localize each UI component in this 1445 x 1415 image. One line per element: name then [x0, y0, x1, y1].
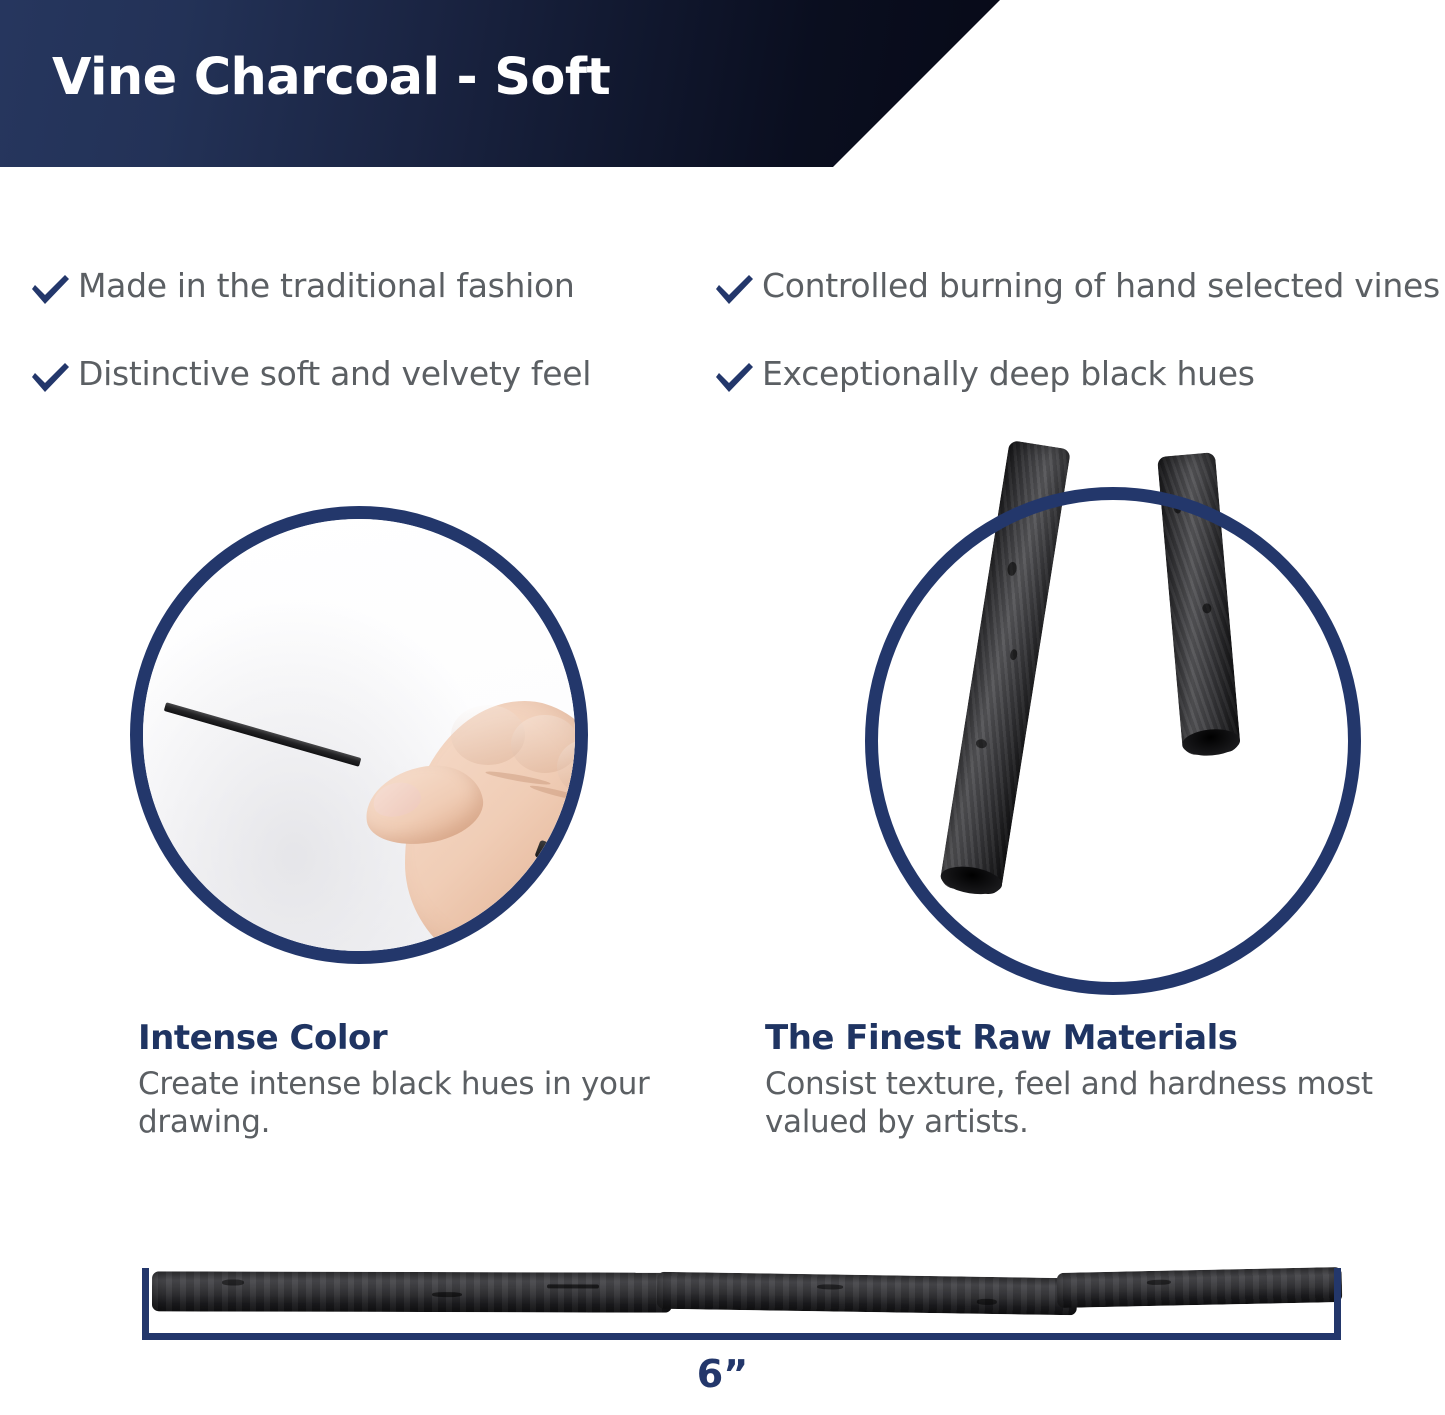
- feature-bullet-item: Controlled burning of hand selected vine…: [712, 265, 1445, 311]
- highlight-title: Intense Color: [138, 1018, 698, 1058]
- highlight-photo-one: [130, 506, 588, 964]
- measurement-section: [142, 1268, 1341, 1340]
- check-icon: [28, 359, 72, 399]
- feature-bullet-label: Distinctive soft and velvety feel: [72, 353, 591, 395]
- feature-bullet-label: Exceptionally deep black hues: [756, 353, 1255, 395]
- check-icon: [712, 271, 756, 311]
- page-title: Vine Charcoal - Soft: [52, 48, 610, 107]
- highlight-caption-two: The Finest Raw Materials Consist texture…: [765, 1018, 1385, 1142]
- feature-bullet-list: Made in the traditional fashion Distinct…: [0, 265, 1445, 465]
- feature-bullet-item: Made in the traditional fashion: [28, 265, 688, 311]
- hand-drawing-with-charcoal-photo: [130, 506, 588, 964]
- charcoal-stick-right: [1157, 452, 1241, 756]
- check-icon: [712, 359, 756, 399]
- highlight-photo-two: [878, 500, 1348, 982]
- hand-illustration: [359, 679, 588, 964]
- feature-bullets-right-column: Controlled burning of hand selected vine…: [712, 265, 1445, 441]
- check-icon: [28, 271, 72, 311]
- feature-bullet-label: Controlled burning of hand selected vine…: [756, 265, 1440, 307]
- charcoal-stick-left: [939, 440, 1071, 896]
- charcoal-sticks-closeup-photo: [878, 500, 1348, 982]
- header-banner: Vine Charcoal - Soft: [0, 0, 1000, 167]
- highlight-title: The Finest Raw Materials: [765, 1018, 1385, 1058]
- measurement-label: 6”: [0, 1352, 1445, 1396]
- highlight-caption-one: Intense Color Create intense black hues …: [138, 1018, 698, 1142]
- feature-bullet-item: Distinctive soft and velvety feel: [28, 353, 688, 399]
- measurement-bracket: [142, 1268, 1341, 1340]
- feature-bullets-left-column: Made in the traditional fashion Distinct…: [28, 265, 688, 441]
- highlight-body: Create intense black hues in your drawin…: [138, 1066, 698, 1142]
- feature-bullet-label: Made in the traditional fashion: [72, 265, 575, 307]
- feature-bullet-item: Exceptionally deep black hues: [712, 353, 1445, 399]
- highlight-body: Consist texture, feel and hardness most …: [765, 1066, 1385, 1142]
